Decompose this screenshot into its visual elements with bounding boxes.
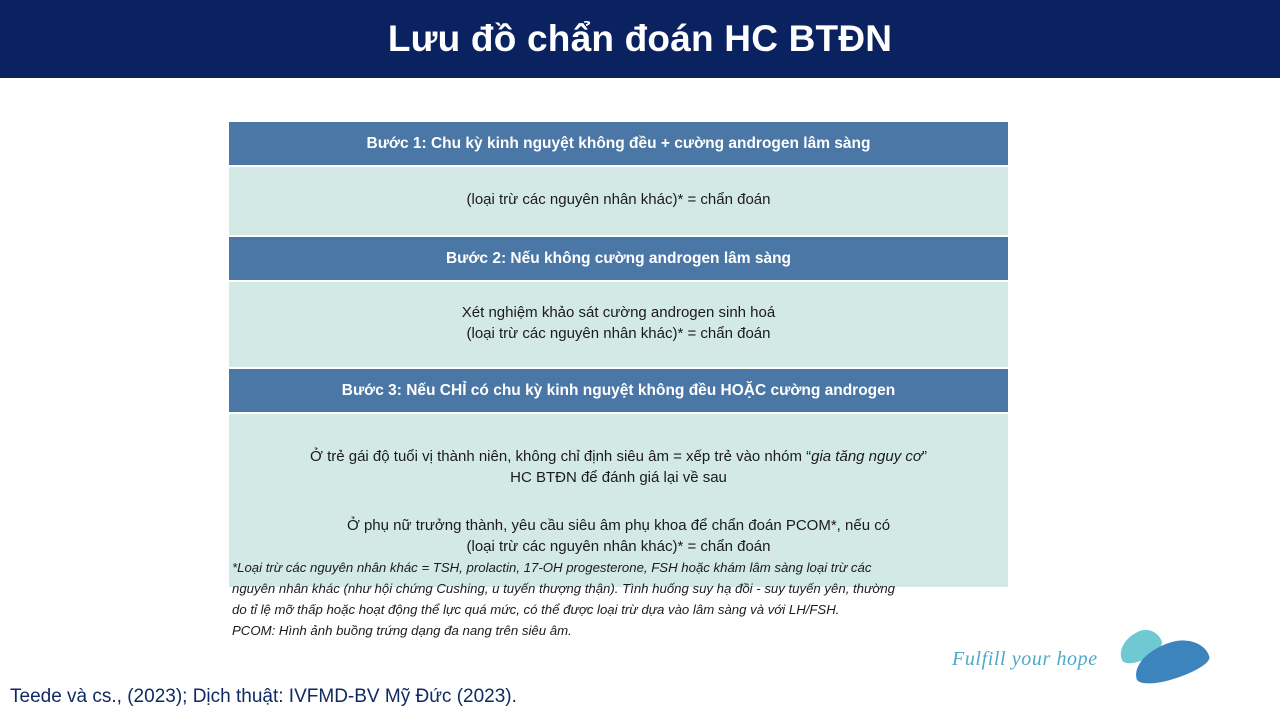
brand-logo: Fulfill your hope (952, 630, 1212, 692)
step-3-p1-emphasis: gia tăng nguy cơ (811, 448, 922, 465)
logo-tagline: Fulfill your hope (952, 648, 1098, 671)
title-band: Lưu đồ chẩn đoán HC BTĐN (0, 0, 1280, 78)
diagnostic-flow-table: Bước 1: Chu kỳ kinh nguyệt không đều + c… (229, 122, 1008, 587)
step-1-header: Bước 1: Chu kỳ kinh nguyệt không đều + c… (229, 122, 1008, 167)
page-title: Lưu đồ chẩn đoán HC BTĐN (388, 20, 892, 59)
step-3-paragraph-2-line-2: (loại trừ các nguyên nhân khác)* = chẩn … (245, 536, 992, 557)
step-1-body: (loại trừ các nguyên nhân khác)* = chẩn … (229, 167, 1008, 236)
step-3-paragraph-2-line-1: Ở phụ nữ trưởng thành, yêu cầu siêu âm p… (245, 515, 992, 536)
step-3-p1-text-after: ” (922, 448, 927, 465)
step-1-body-line-1: (loại trừ các nguyên nhân khác)* = chẩn … (245, 189, 992, 210)
footnote-line-2: nguyên nhân khác (như hội chứng Cushing,… (232, 579, 1010, 600)
step-2-body: Xét nghiệm khảo sát cường androgen sinh … (229, 282, 1008, 369)
footnote-line-1: *Loại trừ các nguyên nhân khác = TSH, pr… (232, 558, 1010, 579)
step-3-header: Bước 3: Nếu CHỈ có chu kỳ kinh nguyệt kh… (229, 369, 1008, 414)
footnote-line-4: PCOM: Hình ảnh buồng trứng dạng đa nang … (232, 621, 1010, 642)
step-3-p1-text-before: Ở trẻ gái độ tuổi vị thành niên, không c… (310, 448, 811, 465)
step-2-body-line-1: Xét nghiệm khảo sát cường androgen sinh … (245, 302, 992, 323)
step-3-paragraph-1-line-2: HC BTĐN để đánh giá lại về sau (245, 467, 992, 488)
footnote-line-3: do tỉ lệ mỡ thấp hoặc hoạt động thể lực … (232, 600, 1010, 621)
step-2-body-line-2: (loại trừ các nguyên nhân khác)* = chẩn … (245, 323, 992, 344)
source-citation: Teede và cs., (2023); Dịch thuật: IVFMD-… (10, 686, 517, 708)
footnote-block: *Loại trừ các nguyên nhân khác = TSH, pr… (232, 558, 1010, 641)
step-3-paragraph-1-line-1: Ở trẻ gái độ tuổi vị thành niên, không c… (245, 446, 992, 467)
step-2-header: Bước 2: Nếu không cường androgen lâm sàn… (229, 237, 1008, 282)
logo-leaf-icon (1116, 630, 1212, 686)
